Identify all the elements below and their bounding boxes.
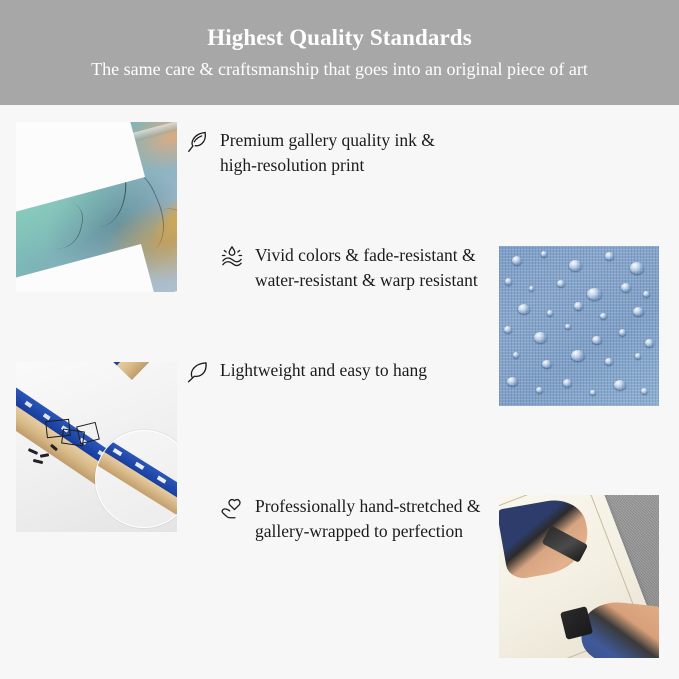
water-droplet (504, 326, 512, 333)
hand-heart-icon (219, 495, 245, 521)
page-subtitle: The same care & craftsmanship that goes … (91, 59, 588, 80)
feature-item-premium-ink: Premium gallery quality ink & high-resol… (184, 128, 474, 178)
water-drop-shield-icon (219, 244, 245, 270)
feature-label: Vivid colors & fade-resistant & water-re… (255, 243, 509, 293)
water-droplet (512, 256, 522, 265)
photo-frame-hanging-hardware (16, 362, 177, 532)
feature-item-hand-stretched: Professionally hand-stretched & gallery-… (219, 494, 509, 544)
water-droplet (592, 336, 602, 344)
water-droplet (542, 360, 552, 368)
feature-label: Premium gallery quality ink & high-resol… (220, 128, 474, 178)
feature-item-fade-water-resistant: Vivid colors & fade-resistant & water-re… (219, 243, 509, 293)
feature-label: Lightweight and easy to hang (220, 358, 427, 383)
water-droplet (557, 280, 565, 287)
quill-pen-icon (184, 129, 210, 155)
water-droplet (645, 339, 654, 347)
feature-label: Professionally hand-stretched & gallery-… (255, 494, 509, 544)
water-droplet (563, 379, 572, 387)
water-droplet (536, 387, 543, 393)
feather-icon (184, 359, 210, 385)
feature-item-lightweight-hang: Lightweight and easy to hang (184, 358, 484, 385)
photo-hand-stretching-canvas (499, 495, 659, 658)
water-droplet (541, 251, 547, 257)
water-droplet (547, 310, 553, 316)
page-title: Highest Quality Standards (207, 25, 472, 51)
water-droplet (587, 288, 602, 300)
water-droplet (605, 358, 613, 365)
header-banner: Highest Quality Standards The same care … (0, 0, 679, 105)
water-droplet (600, 313, 607, 319)
water-droplet (621, 283, 631, 292)
photo-teal-marble-canvas (16, 122, 177, 292)
water-droplet (518, 304, 530, 314)
photo-water-droplets-fabric (499, 246, 659, 406)
water-droplet (571, 350, 585, 361)
water-droplet (643, 291, 650, 297)
